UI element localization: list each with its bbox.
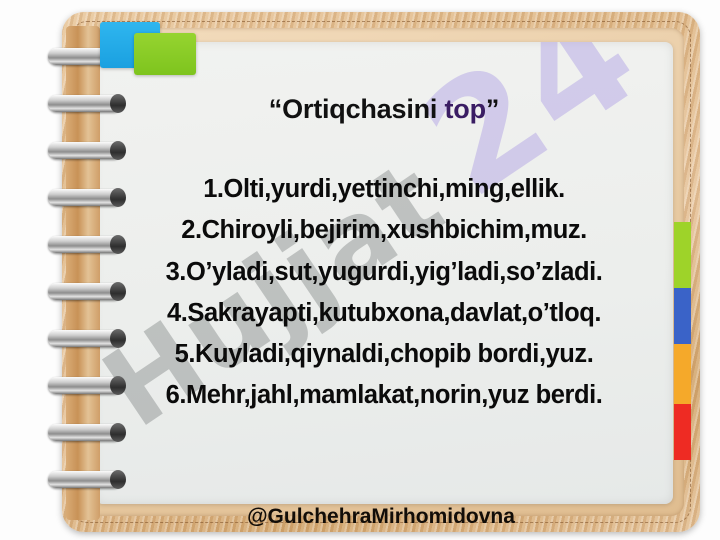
spiral-ring	[48, 236, 122, 253]
exercise-list: 1.Olti,yurdi,yettinchi,ming,ellik. 2.Chi…	[95, 169, 673, 417]
list-item: 4.Sakrayapti,kutubxona,davlat,o’tloq.	[101, 293, 667, 334]
spiral-ring	[48, 95, 122, 112]
right-tab-orange[interactable]	[674, 344, 691, 404]
spiral-ring	[48, 377, 122, 394]
title-prefix: “Ortiqchasini	[269, 94, 445, 124]
page-content: “Ortiqchasini top” 1.Olti,yurdi,yettinch…	[95, 94, 673, 504]
title-suffix: ”	[486, 94, 499, 124]
spiral-ring	[48, 330, 122, 347]
list-item: 6.Mehr,jahl,mamlakat,norin,yuz berdi.	[101, 375, 667, 416]
spiral-ring	[48, 424, 122, 441]
spiral-ring	[48, 471, 122, 488]
page-title: “Ortiqchasini top”	[95, 94, 673, 125]
title-highlight: top	[445, 94, 486, 124]
spiral-ring	[48, 142, 122, 159]
spiral-ring	[48, 189, 122, 206]
list-item: 5.Kuyladi,qiynaldi,chopib bordi,yuz.	[101, 334, 667, 375]
spiral-ring	[48, 283, 122, 300]
right-tab-red[interactable]	[674, 404, 691, 460]
slide-canvas: Hujjat 24 “Ortiqchasini top” 1.Olti,yurd…	[0, 0, 720, 540]
author-credit: @GulchehraMirhomidovna	[62, 505, 700, 540]
list-item: 2.Chiroyli,bejirim,xushbichim,muz.	[101, 210, 667, 251]
paper-page: Hujjat 24 “Ortiqchasini top” 1.Olti,yurd…	[95, 42, 673, 504]
top-tab-green[interactable]	[134, 33, 196, 75]
list-item: 1.Olti,yurdi,yettinchi,ming,ellik.	[101, 169, 667, 210]
list-item: 3.O’yladi,sut,yugurdi,yig’ladi,so’zladi.	[101, 252, 667, 293]
right-tab-blue[interactable]	[674, 288, 691, 344]
right-tab-green[interactable]	[674, 222, 691, 288]
